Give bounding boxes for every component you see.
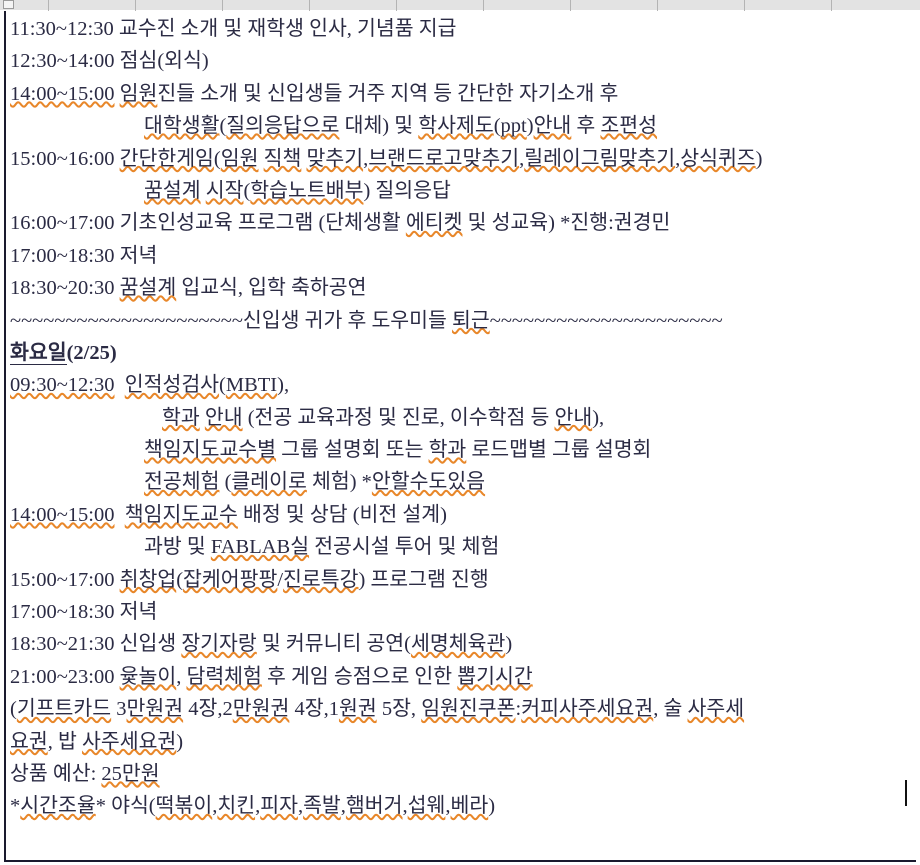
document-line[interactable]: 상품 예산: 25만원 bbox=[10, 758, 916, 790]
spellcheck-word: 햄버거 bbox=[346, 795, 403, 817]
spellcheck-word: 안내 bbox=[205, 407, 243, 429]
spellcheck-word: 학과 bbox=[162, 407, 200, 429]
spellcheck-word: 사주세요권 bbox=[82, 731, 176, 753]
table-cell-schedule[interactable]: 11:30~12:30 교수진 소개 및 재학생 인사, 기념품 지급12:30… bbox=[4, 11, 916, 862]
ruler-tick bbox=[222, 0, 223, 11]
ruler-tick bbox=[309, 0, 310, 11]
spellcheck-word: 안내 bbox=[534, 115, 572, 137]
spellcheck-word: 원권 bbox=[339, 698, 377, 720]
spellcheck-word: 시간조율 bbox=[20, 795, 95, 817]
spellcheck-word: 사주세 bbox=[687, 698, 744, 720]
spellcheck-word: 만원권 bbox=[233, 698, 290, 720]
document-line[interactable]: 과방 및 FABLAB실 전공시설 투어 및 체험 bbox=[10, 531, 916, 563]
ruler-tick bbox=[48, 0, 49, 11]
spellcheck-word: 윷놀이 bbox=[120, 666, 177, 688]
ruler-tick bbox=[396, 0, 397, 11]
document-line[interactable]: *시간조율* 야식(떡볶이,치킨,피자,족발,햄버거,섭웨,베라) bbox=[10, 790, 916, 822]
spellcheck-word: 커피사주세요권 bbox=[521, 698, 653, 720]
spellcheck-word: 안내 bbox=[554, 407, 592, 429]
spellcheck-word: 14:00~15:00 bbox=[10, 504, 114, 526]
spellcheck-word: 학과 bbox=[429, 439, 467, 461]
spellcheck-word: 만원권 bbox=[127, 698, 184, 720]
document-line[interactable]: 대학생활(질의응답으로 대체) 및 학사제도(ppt)안내 후 조편성 bbox=[10, 110, 916, 142]
ruler-tick bbox=[483, 0, 484, 11]
spellcheck-word: 14:00~15:00 bbox=[10, 83, 114, 105]
spellcheck-word: 클레이로 bbox=[231, 471, 306, 493]
spellcheck-word: 대학생활 bbox=[144, 115, 219, 137]
document-line[interactable]: 11:30~12:30 교수진 소개 및 재학생 인사, 기념품 지급 bbox=[10, 13, 916, 45]
document-line[interactable]: 15:00~16:00 간단한게임(임원 직책 맞추기,브랜드로고맞추기,릴레이… bbox=[10, 143, 916, 175]
document-line[interactable]: 14:00~15:00 임원진들 소개 및 신입생들 거주 지역 등 간단한 자… bbox=[10, 78, 916, 110]
spellcheck-word: 직책 bbox=[264, 148, 302, 170]
ruler-tick bbox=[744, 0, 745, 11]
text-caret bbox=[905, 780, 907, 806]
spellcheck-word: 전공체험 bbox=[144, 471, 219, 493]
spellcheck-word: 안할수도있음 bbox=[372, 471, 485, 493]
spellcheck-word: 장기자랑 bbox=[181, 633, 256, 655]
spellcheck-word: 25만원 bbox=[101, 763, 159, 785]
spellcheck-word: 맞추기 bbox=[306, 148, 363, 170]
document-line[interactable]: 12:30~14:00 점심(외식) bbox=[10, 45, 916, 77]
document-line[interactable]: 18:30~20:30 꿈설계 입교식, 입학 축하공연 bbox=[10, 272, 916, 304]
spellcheck-word: 꿈설계 bbox=[144, 180, 201, 202]
spellcheck-word: ppt bbox=[501, 115, 527, 137]
spellcheck-word: 임원 bbox=[221, 148, 259, 170]
spellcheck-word: 학사제도 bbox=[418, 115, 493, 137]
document-line[interactable]: 16:00~17:00 기초인성교육 프로그램 (단체생활 에티켓 및 성교육)… bbox=[10, 207, 916, 239]
document-line[interactable]: 전공체험 (클레이로 체험) *안할수도있음 bbox=[10, 466, 916, 498]
ruler-tick bbox=[135, 0, 136, 11]
spellcheck-word: 책임지도교수별 bbox=[144, 439, 276, 461]
spellcheck-word: 잡케어팡팡 bbox=[183, 569, 277, 591]
document-line[interactable]: 17:00~18:30 저녁 bbox=[10, 596, 916, 628]
spellcheck-word: 기프트카드 bbox=[17, 698, 111, 720]
document-line[interactable]: ~~~~~~~~~~~~~~~~~~~~~신입생 귀가 후 도우미들 퇴근~~~… bbox=[10, 305, 916, 337]
spellcheck-word: 질의응답으로 bbox=[226, 115, 339, 137]
left-indent-marker[interactable] bbox=[3, 0, 14, 9]
spellcheck-word: 임원진쿠폰 bbox=[421, 698, 515, 720]
spellcheck-word: 09:30~12:30 bbox=[10, 374, 114, 396]
spellcheck-word: 세명체육관 bbox=[411, 633, 505, 655]
document-line[interactable]: 21:00~23:00 윷놀이, 담력체험 후 게임 승점으로 인한 뽑기시간 bbox=[10, 661, 916, 693]
spellcheck-word: 떡볶이 bbox=[156, 795, 213, 817]
document-page[interactable]: 11:30~12:30 교수진 소개 및 재학생 인사, 기념품 지급12:30… bbox=[0, 11, 920, 865]
spellcheck-word: 치킨 bbox=[217, 795, 255, 817]
document-line[interactable]: 꿈설계 시작(학습노트배부) 질의응답 bbox=[10, 175, 916, 207]
spellcheck-word: 진로특강 bbox=[283, 569, 358, 591]
document-line[interactable]: 화요일(2/25) bbox=[10, 337, 916, 369]
document-text-body[interactable]: 11:30~12:30 교수진 소개 및 재학생 인사, 기념품 지급12:30… bbox=[10, 13, 916, 823]
spellcheck-word: 베라 bbox=[451, 795, 489, 817]
spellcheck-word: 족발 bbox=[303, 795, 341, 817]
document-line[interactable]: 학과 안내 (전공 교육과정 및 진로, 이수학점 등 안내), bbox=[10, 402, 916, 434]
underlined-heading: 화요일 bbox=[10, 342, 67, 365]
spellcheck-word: 담력체험 bbox=[186, 666, 261, 688]
spellcheck-word: MBTI bbox=[226, 374, 277, 396]
spellcheck-word: 취창업 bbox=[120, 569, 177, 591]
horizontal-ruler[interactable] bbox=[0, 0, 920, 11]
document-line[interactable]: 요권, 밥 사주세요권) bbox=[10, 726, 916, 758]
spellcheck-word: 피자 bbox=[260, 795, 298, 817]
spellcheck-word: 학습노트배부 bbox=[250, 180, 363, 202]
document-line[interactable]: 15:00~17:00 취창업(잡케어팡팡/진로특강) 프로그램 진행 bbox=[10, 564, 916, 596]
spellcheck-word: 임원 bbox=[120, 83, 158, 105]
spellcheck-word: 시작 bbox=[206, 180, 244, 202]
spellcheck-word: 인적성검사 bbox=[125, 374, 219, 396]
spellcheck-word: 상식퀴즈 bbox=[680, 148, 755, 170]
spellcheck-word: 뽑기시간 bbox=[457, 666, 532, 688]
spellcheck-word: 브랜드로고맞추기 bbox=[368, 148, 519, 170]
ruler-tick bbox=[831, 0, 832, 11]
ruler-tick bbox=[657, 0, 658, 11]
spellcheck-word: 꿈설계 bbox=[120, 277, 177, 299]
spellcheck-word: 요권 bbox=[10, 731, 48, 753]
document-line[interactable]: (기프트카드 3만원권 4장,2만원권 4장,1원권 5장, 임원진쿠폰:커피사… bbox=[10, 693, 916, 725]
spellcheck-word: 조편성 bbox=[600, 115, 657, 137]
spellcheck-word: 퇴근 bbox=[452, 310, 490, 332]
spellcheck-word: 간단한게임 bbox=[120, 148, 214, 170]
document-line[interactable]: 책임지도교수별 그룹 설명회 또는 학과 로드맵별 그룹 설명회 bbox=[10, 434, 916, 466]
document-line[interactable]: 14:00~15:00 책임지도교수 배정 및 상담 (비전 설계) bbox=[10, 499, 916, 531]
spellcheck-word: 책임지도교수 bbox=[125, 504, 238, 526]
spellcheck-word: 섭웨 bbox=[408, 795, 446, 817]
spellcheck-word: 에티켓 bbox=[406, 212, 463, 234]
document-line[interactable]: 09:30~12:30 인적성검사(MBTI), bbox=[10, 369, 916, 401]
document-line[interactable]: 18:30~21:30 신입생 장기자랑 및 커뮤니티 공연(세명체육관) bbox=[10, 628, 916, 660]
spellcheck-word: 릴레이그림맞추기 bbox=[524, 148, 675, 170]
document-line[interactable]: 17:00~18:30 저녁 bbox=[10, 240, 916, 272]
ruler-tick bbox=[570, 0, 571, 11]
spellcheck-word: FABLAB실 bbox=[211, 536, 309, 558]
